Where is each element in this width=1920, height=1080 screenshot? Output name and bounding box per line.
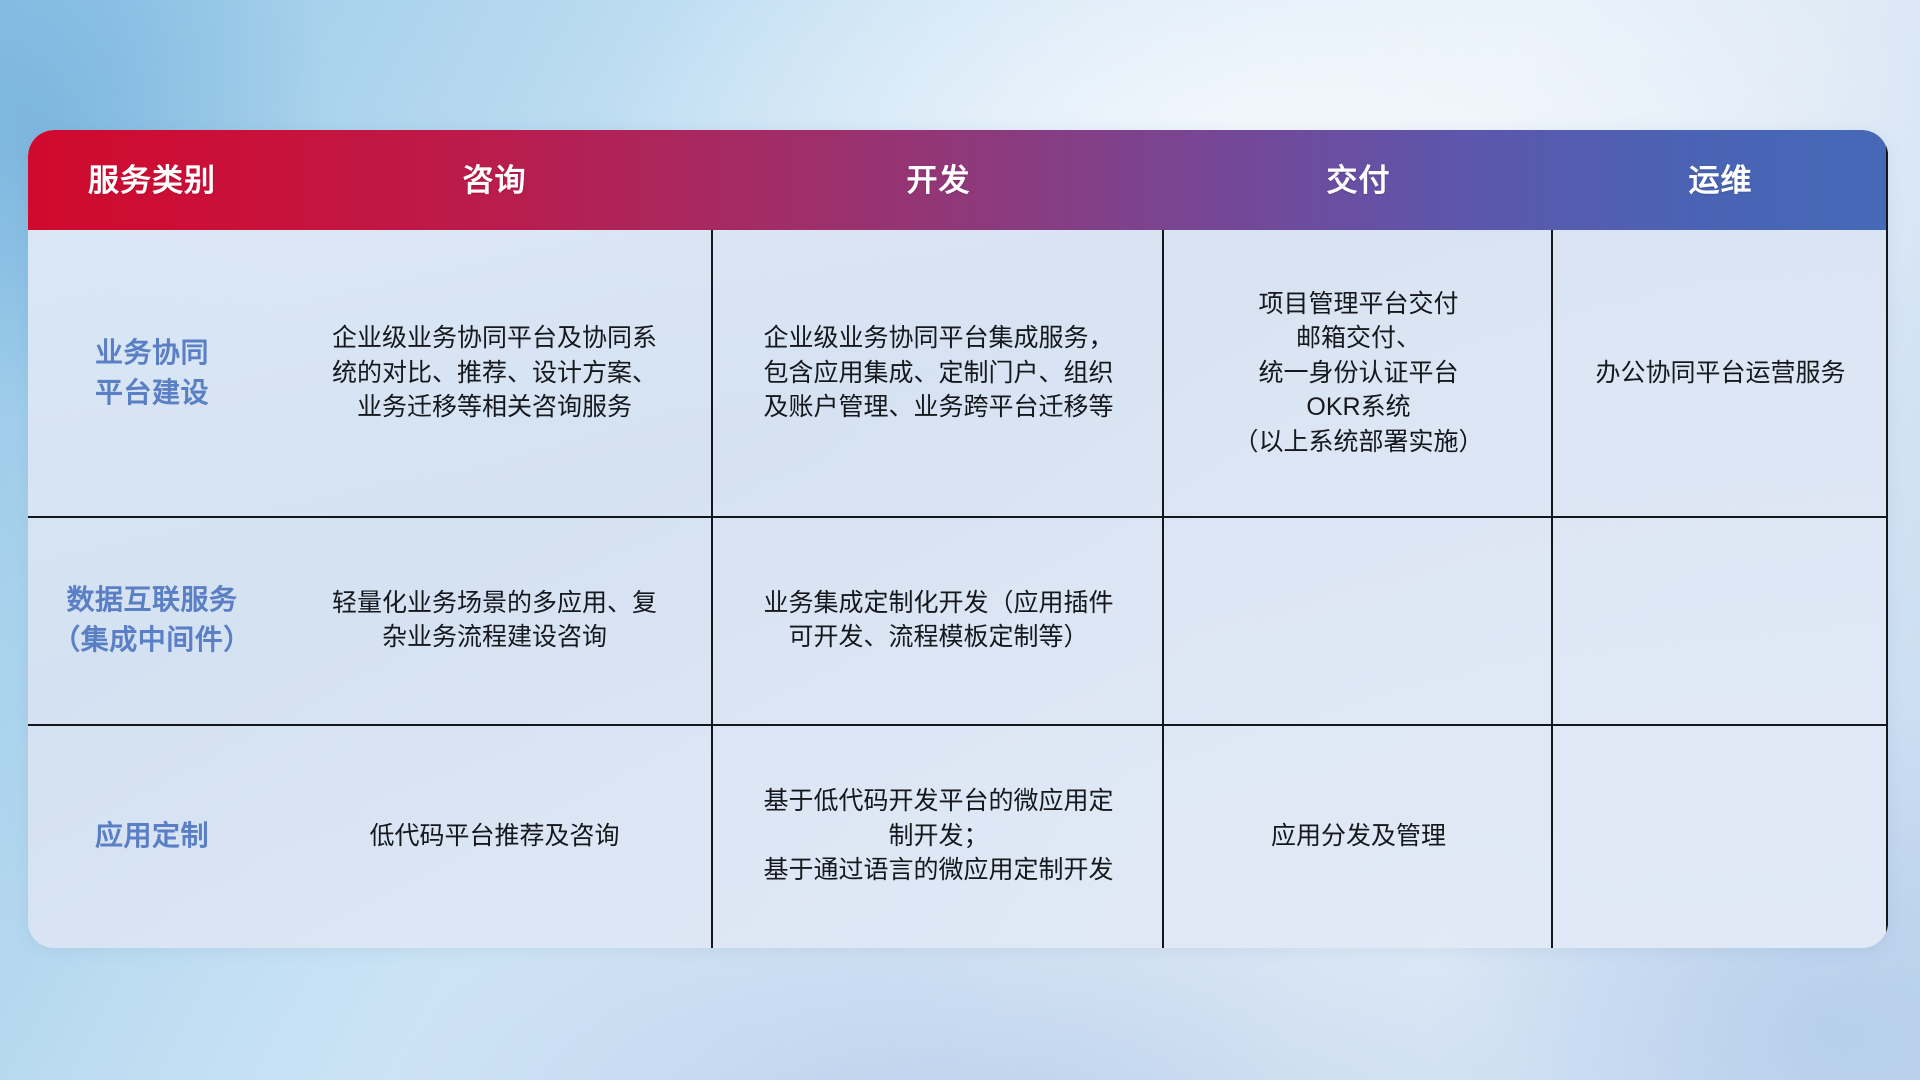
table-row: 业务协同 平台建设 企业级业务协同平台及协同系 统的对比、推荐、设计方案、 业务…	[28, 230, 1888, 516]
cell-operations	[1553, 724, 1888, 948]
cell-consulting: 低代码平台推荐及咨询	[276, 724, 713, 948]
cell-text: 轻量化业务场景的多应用、复 杂业务流程建设咨询	[332, 586, 657, 655]
cell-development: 基于低代码开发平台的微应用定 制开发； 基于通过语言的微应用定制开发	[713, 724, 1164, 948]
row-category-cell: 数据互联服务 （集成中间件）	[28, 516, 276, 724]
column-header-delivery: 交付	[1164, 165, 1553, 196]
row-category-cell: 业务协同 平台建设	[28, 230, 276, 516]
cell-consulting: 企业级业务协同平台及协同系 统的对比、推荐、设计方案、 业务迁移等相关咨询服务	[276, 230, 713, 516]
cell-text: 基于低代码开发平台的微应用定 制开发； 基于通过语言的微应用定制开发	[763, 784, 1113, 888]
cell-text: 项目管理平台交付 邮箱交付、 统一身份认证平台 OKR系统 （以上系统部署实施）	[1233, 287, 1483, 460]
cell-text: 低代码平台推荐及咨询	[369, 819, 619, 854]
table-row: 数据互联服务 （集成中间件） 轻量化业务场景的多应用、复 杂业务流程建设咨询 业…	[28, 516, 1888, 724]
table-row: 应用定制 低代码平台推荐及咨询 基于低代码开发平台的微应用定 制开发； 基于通过…	[28, 724, 1888, 948]
cell-development: 业务集成定制化开发（应用插件 可开发、流程模板定制等）	[713, 516, 1164, 724]
cell-text: 应用分发及管理	[1271, 819, 1446, 854]
table-body: 业务协同 平台建设 企业级业务协同平台及协同系 统的对比、推荐、设计方案、 业务…	[28, 230, 1888, 948]
row-category-cell: 应用定制	[28, 724, 276, 948]
category-label: 数据互联服务 （集成中间件）	[52, 580, 252, 660]
cell-text: 办公协同平台运营服务	[1595, 356, 1845, 391]
cell-delivery	[1164, 516, 1553, 724]
cell-text: 企业级业务协同平台及协同系 统的对比、推荐、设计方案、 业务迁移等相关咨询服务	[332, 321, 657, 425]
table-header-row: 服务类别 咨询 开发 交付 运维	[28, 130, 1888, 230]
column-header-operations: 运维	[1553, 165, 1888, 196]
column-header-service-category: 服务类别	[28, 165, 276, 196]
cell-delivery: 项目管理平台交付 邮箱交付、 统一身份认证平台 OKR系统 （以上系统部署实施）	[1164, 230, 1553, 516]
cell-text: 业务集成定制化开发（应用插件 可开发、流程模板定制等）	[763, 586, 1113, 655]
category-label: 应用定制	[95, 816, 209, 856]
service-matrix-table: 服务类别 咨询 开发 交付 运维 业务协同 平台建设 企业级业务协同平台及协同系…	[28, 130, 1888, 948]
cell-consulting: 轻量化业务场景的多应用、复 杂业务流程建设咨询	[276, 516, 713, 724]
cell-delivery: 应用分发及管理	[1164, 724, 1553, 948]
cell-development: 企业级业务协同平台集成服务， 包含应用集成、定制门户、组织 及账户管理、业务跨平…	[713, 230, 1164, 516]
category-label: 业务协同 平台建设	[95, 333, 209, 413]
cell-text: 企业级业务协同平台集成服务， 包含应用集成、定制门户、组织 及账户管理、业务跨平…	[763, 321, 1113, 425]
column-header-consulting: 咨询	[276, 165, 713, 196]
column-header-development: 开发	[713, 165, 1164, 196]
cell-operations: 办公协同平台运营服务	[1553, 230, 1888, 516]
cell-operations	[1553, 516, 1888, 724]
